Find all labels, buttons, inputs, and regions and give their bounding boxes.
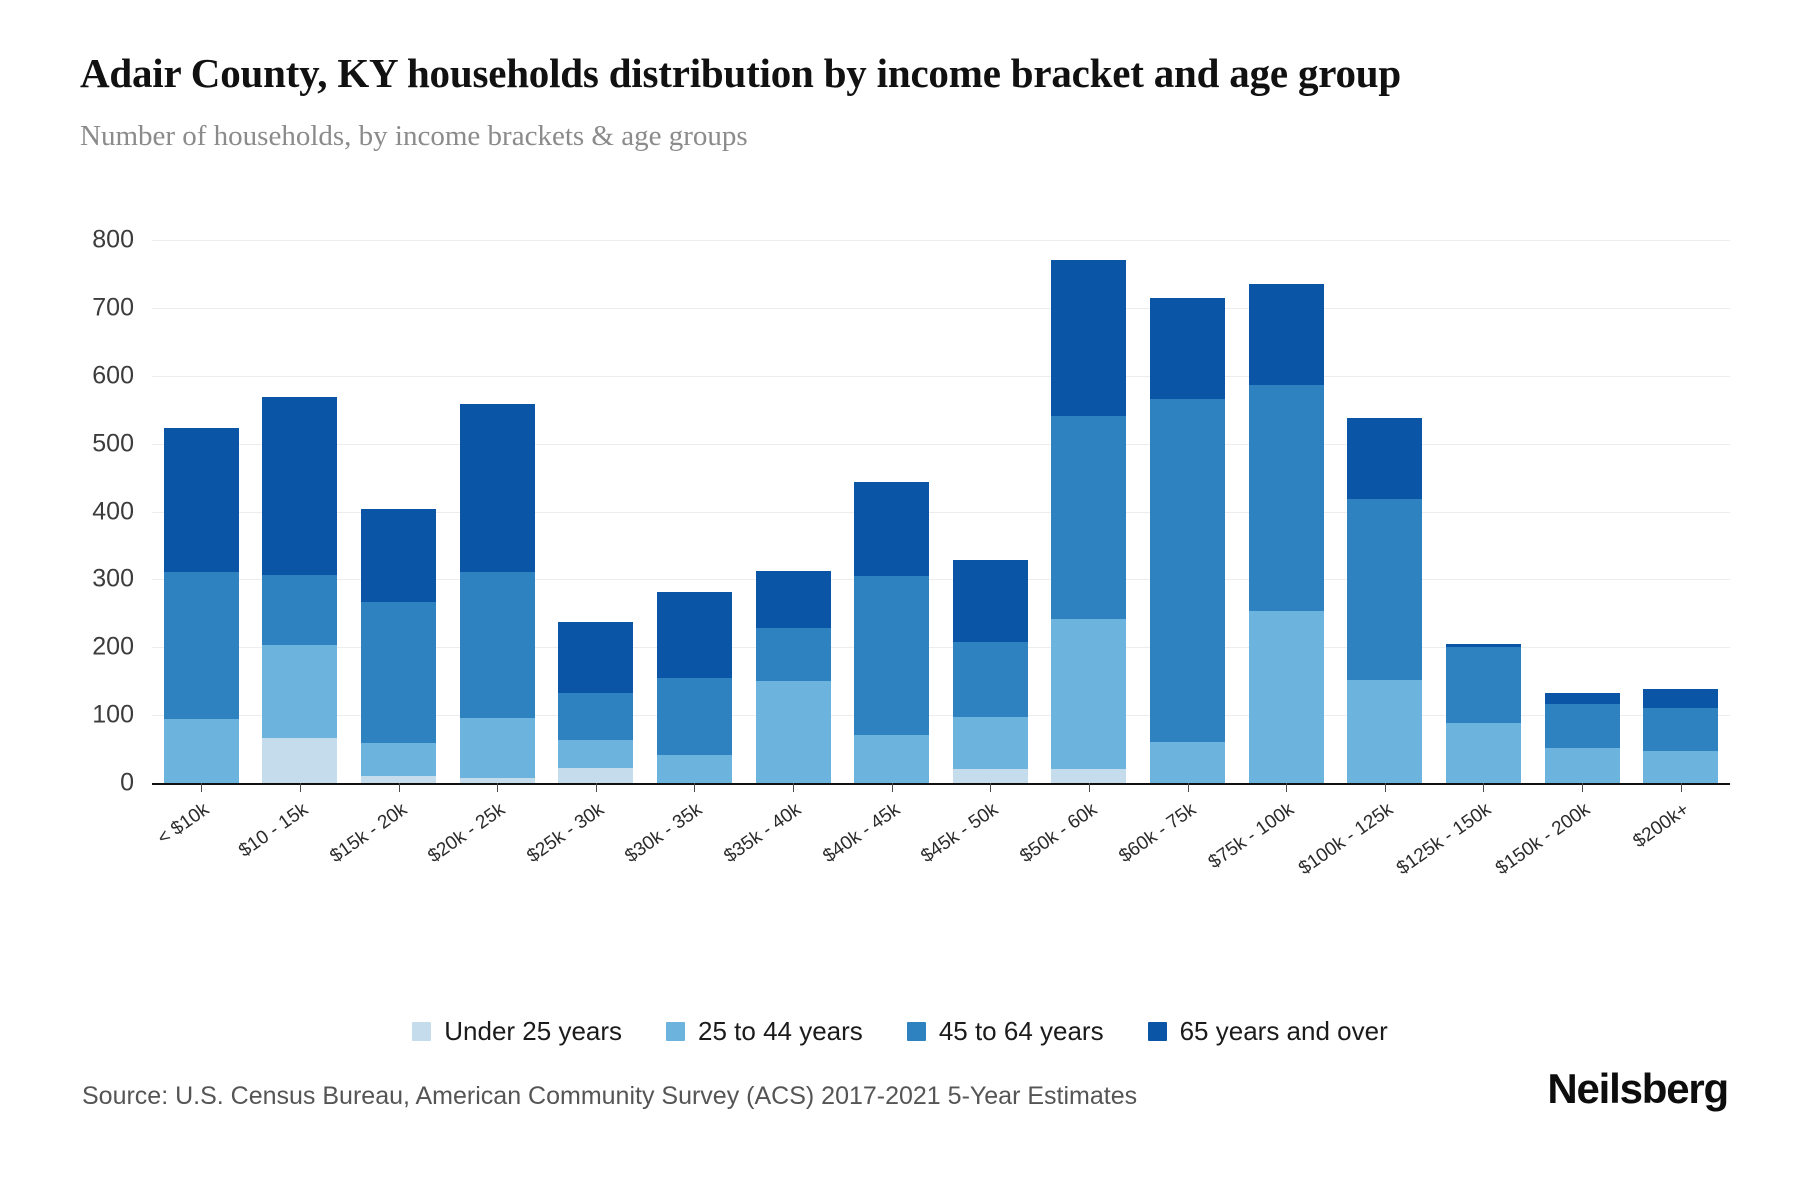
legend-item[interactable]: Under 25 years — [412, 1016, 622, 1047]
bar-segment[interactable] — [361, 743, 436, 776]
bar-segment[interactable] — [854, 482, 929, 576]
legend-label: 25 to 44 years — [698, 1016, 863, 1047]
bar-segment[interactable] — [1347, 499, 1422, 680]
bar-segment[interactable] — [460, 718, 535, 778]
x-axis-tick — [201, 783, 202, 792]
bar-segment[interactable] — [756, 571, 831, 627]
x-axis-tick-label: $45k - 50k — [826, 799, 1002, 932]
bar-segment[interactable] — [756, 681, 831, 783]
bar-segment[interactable] — [657, 755, 732, 783]
y-axis-tick-label: 200 — [24, 633, 134, 662]
legend-label: Under 25 years — [444, 1016, 622, 1047]
x-axis-tick-label: $200k+ — [1517, 799, 1693, 932]
bar-segment[interactable] — [164, 428, 239, 572]
x-axis-tick-label: $35k - 40k — [629, 799, 805, 932]
legend-swatch-icon — [1148, 1022, 1167, 1041]
legend-swatch-icon — [907, 1022, 926, 1041]
bar-segment[interactable] — [1249, 611, 1324, 783]
x-axis-tick-label: $60k - 75k — [1024, 799, 1200, 932]
bar-segment[interactable] — [460, 572, 535, 718]
x-axis-tick-label: $150k - 200k — [1418, 799, 1594, 932]
bar-segment[interactable] — [1545, 748, 1620, 783]
y-axis-tick-label: 500 — [24, 429, 134, 458]
y-axis-tick-label: 300 — [24, 565, 134, 594]
chart-legend: Under 25 years25 to 44 years45 to 64 yea… — [0, 1016, 1800, 1047]
x-axis-tick — [892, 783, 893, 792]
y-axis-tick-label: 400 — [24, 497, 134, 526]
bar-segment[interactable] — [1150, 298, 1225, 399]
y-axis-tick-label: 100 — [24, 701, 134, 730]
bar-group[interactable] — [756, 240, 831, 783]
bar-segment[interactable] — [756, 628, 831, 682]
bar-group[interactable] — [460, 240, 535, 783]
bar-group[interactable] — [558, 240, 633, 783]
legend-label: 45 to 64 years — [939, 1016, 1104, 1047]
y-axis-tick-label: 800 — [24, 226, 134, 255]
bar-segment[interactable] — [361, 509, 436, 603]
bar-group[interactable] — [1545, 240, 1620, 783]
bar-segment[interactable] — [1643, 751, 1718, 783]
bar-segment[interactable] — [854, 735, 929, 783]
bar-segment[interactable] — [1347, 680, 1422, 783]
x-axis-tick — [990, 783, 991, 792]
bar-segment[interactable] — [953, 769, 1028, 783]
bar-group[interactable] — [657, 240, 732, 783]
bar-segment[interactable] — [262, 575, 337, 646]
bar-segment[interactable] — [1545, 693, 1620, 703]
bar-segment[interactable] — [1545, 704, 1620, 748]
bar-group[interactable] — [1347, 240, 1422, 783]
bar-segment[interactable] — [854, 576, 929, 735]
chart-page: Adair County, KY households distribution… — [0, 0, 1800, 1200]
bar-segment[interactable] — [164, 572, 239, 719]
bar-segment[interactable] — [558, 768, 633, 783]
x-axis-tick-label: $50k - 60k — [925, 799, 1101, 932]
x-axis-tick — [1385, 783, 1386, 792]
x-axis-tick — [300, 783, 301, 792]
x-axis-tick-label: $100k - 125k — [1221, 799, 1397, 932]
bar-group[interactable] — [1150, 240, 1225, 783]
bar-segment[interactable] — [1249, 284, 1324, 385]
bar-segment[interactable] — [1051, 769, 1126, 783]
bar-segment[interactable] — [953, 642, 1028, 717]
x-axis-line — [152, 783, 1730, 785]
bar-group[interactable] — [1643, 240, 1718, 783]
x-axis-tick-label: $15k - 20k — [235, 799, 411, 932]
bar-segment[interactable] — [1051, 416, 1126, 620]
bar-segment[interactable] — [657, 678, 732, 755]
x-axis-tick-label: $25k - 30k — [432, 799, 608, 932]
x-axis-tick — [793, 783, 794, 792]
bar-segment[interactable] — [1643, 708, 1718, 751]
x-axis-tick — [399, 783, 400, 792]
x-axis-tick — [1681, 783, 1682, 792]
legend-item[interactable]: 45 to 64 years — [907, 1016, 1104, 1047]
plot-area — [152, 240, 1730, 783]
bar-group[interactable] — [262, 240, 337, 783]
legend-item[interactable]: 65 years and over — [1148, 1016, 1388, 1047]
x-axis-tick-label: < $10k — [37, 799, 213, 932]
x-axis-tick — [1188, 783, 1189, 792]
x-axis-tick-label: $10 - 15k — [136, 799, 312, 932]
x-axis-tick-label: $40k - 45k — [728, 799, 904, 932]
x-axis-tick — [1089, 783, 1090, 792]
x-axis-tick — [1582, 783, 1583, 792]
bar-segment[interactable] — [1249, 385, 1324, 611]
bar-group[interactable] — [1249, 240, 1324, 783]
source-note: Source: U.S. Census Bureau, American Com… — [82, 1082, 1137, 1111]
bar-segment[interactable] — [1051, 260, 1126, 415]
bar-group[interactable] — [953, 240, 1028, 783]
bar-group[interactable] — [361, 240, 436, 783]
bar-segment[interactable] — [262, 397, 337, 574]
bar-segment[interactable] — [558, 740, 633, 768]
bar-group[interactable] — [1446, 240, 1521, 783]
bar-segment[interactable] — [1150, 742, 1225, 783]
legend-label: 65 years and over — [1180, 1016, 1388, 1047]
bar-segment[interactable] — [361, 602, 436, 743]
bar-group[interactable] — [164, 240, 239, 783]
x-axis-tick-label: $20k - 25k — [333, 799, 509, 932]
bar-segment[interactable] — [953, 560, 1028, 642]
legend-swatch-icon — [412, 1022, 431, 1041]
bar-segment[interactable] — [262, 738, 337, 783]
x-axis-tick — [1483, 783, 1484, 792]
y-axis-tick-label: 0 — [24, 769, 134, 798]
bar-segment[interactable] — [164, 719, 239, 783]
x-axis-tick — [596, 783, 597, 792]
bar-segment[interactable] — [1446, 647, 1521, 723]
x-axis-tick-label: $75k - 100k — [1122, 799, 1298, 932]
x-axis-tick — [497, 783, 498, 792]
bar-segment[interactable] — [558, 693, 633, 741]
x-axis-tick-label: $125k - 150k — [1320, 799, 1496, 932]
bar-segment[interactable] — [262, 645, 337, 738]
x-axis-tick — [1286, 783, 1287, 792]
bar-segment[interactable] — [1150, 399, 1225, 742]
bar-segment[interactable] — [657, 592, 732, 679]
bar-segment[interactable] — [1446, 644, 1521, 647]
bar-segment[interactable] — [1051, 619, 1126, 769]
bar-group[interactable] — [854, 240, 929, 783]
bar-segment[interactable] — [1347, 418, 1422, 499]
bar-segment[interactable] — [1643, 689, 1718, 708]
bar-group[interactable] — [1051, 240, 1126, 783]
bar-segment[interactable] — [953, 717, 1028, 769]
x-axis-tick-label: $30k - 35k — [531, 799, 707, 932]
x-axis-tick — [694, 783, 695, 792]
y-axis-tick-label: 600 — [24, 361, 134, 390]
bar-segment[interactable] — [460, 404, 535, 572]
brand-logo: Neilsberg — [1547, 1065, 1728, 1113]
legend-swatch-icon — [666, 1022, 685, 1041]
bar-segment[interactable] — [361, 776, 436, 783]
bar-segment[interactable] — [1446, 723, 1521, 783]
y-axis-tick-label: 700 — [24, 293, 134, 322]
legend-item[interactable]: 25 to 44 years — [666, 1016, 863, 1047]
bar-segment[interactable] — [558, 622, 633, 693]
